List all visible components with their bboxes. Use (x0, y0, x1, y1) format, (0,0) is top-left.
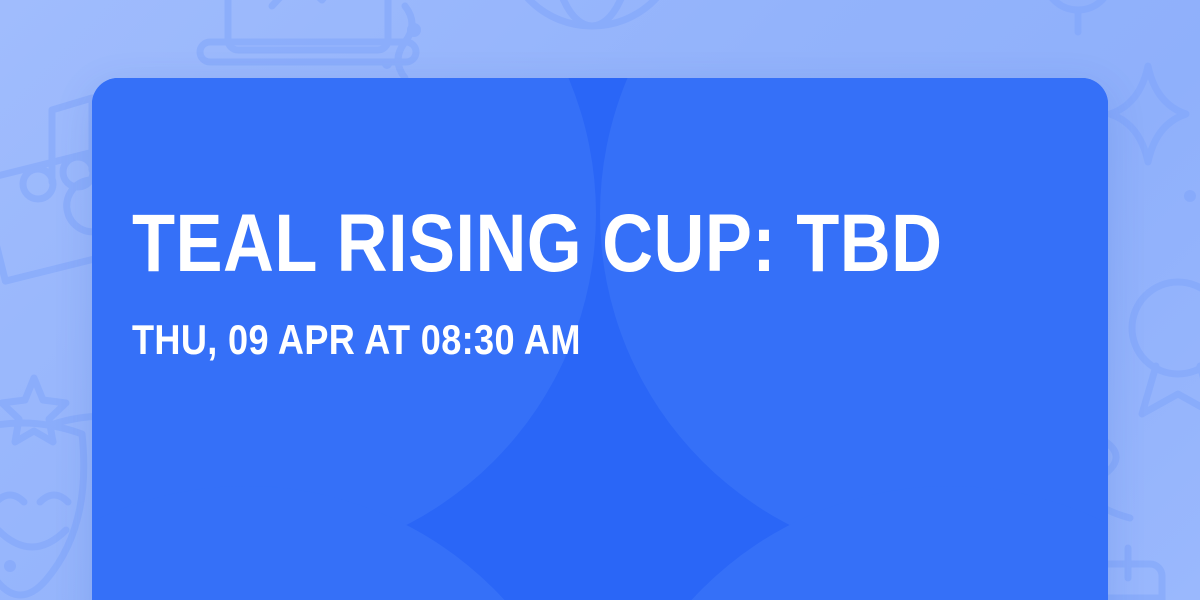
trophy-icon (1132, 282, 1200, 414)
globe-icon (504, 0, 680, 26)
event-datetime: THU, 09 APR AT 08:30 AM (132, 319, 937, 361)
event-card[interactable]: TEAL RISING CUP: TBD THU, 09 APR AT 08:3… (92, 78, 1108, 600)
event-banner: TEAL RISING CUP: TBD THU, 09 APR AT 08:3… (0, 0, 1200, 600)
sparkle-icon (1110, 66, 1186, 162)
laptop-icon (200, 0, 416, 62)
card-decor-circle-bottom-right (600, 486, 1108, 600)
star-icon (2, 378, 66, 442)
card-decor-circle-bottom-left (92, 486, 596, 600)
event-title: TEAL RISING CUP: TBD (132, 206, 937, 281)
card-content: TEAL RISING CUP: TBD THU, 09 APR AT 08:3… (132, 206, 1068, 361)
microphone-icon (1044, 0, 1112, 32)
music-note-icon (23, 98, 93, 199)
confetti-icon (382, 6, 412, 78)
